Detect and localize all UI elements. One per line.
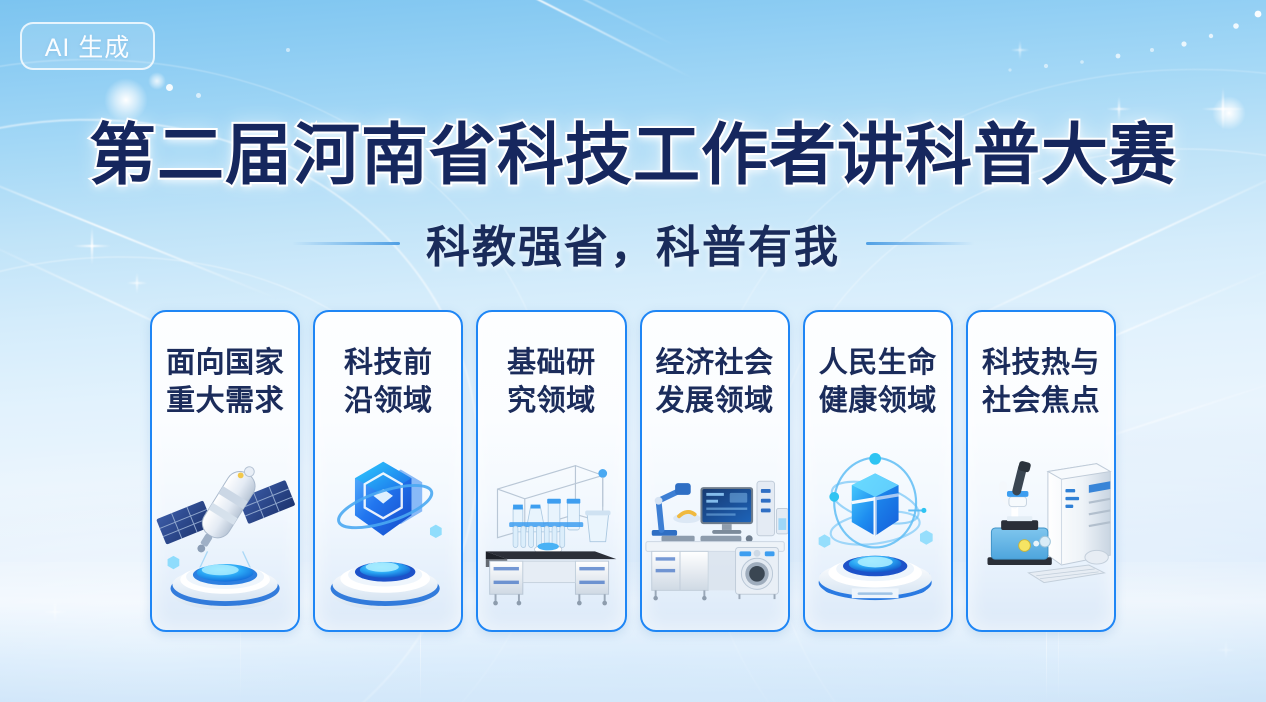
- light-ray: [444, 0, 676, 46]
- category-card-tech-hotspots[interactable]: 科技热与 社会焦点: [966, 310, 1116, 632]
- ai-generated-badge-label: AI 生成: [45, 28, 131, 64]
- sparkle-icon: [1216, 640, 1236, 660]
- poster-canvas: AI 生成 第二届河南省科技工作者讲科普大赛 科教强省，科普有我 面向国家 重大…: [0, 0, 1266, 702]
- light-dot: [196, 93, 201, 98]
- sparkle-icon: [43, 600, 67, 624]
- category-card-title: 面向国家 重大需求: [152, 344, 298, 421]
- light-dot: [286, 48, 290, 52]
- page-title: 第二届河南省科技工作者讲科普大赛: [0, 101, 1266, 198]
- category-card-public-health[interactable]: 人民生命 健康领域: [803, 310, 953, 632]
- category-card-title: 经济社会 发展领域: [642, 344, 788, 421]
- light-dot: [166, 84, 173, 91]
- microscope-computer-icon: [968, 444, 1114, 612]
- satellite-icon: [152, 444, 298, 612]
- light-bokeh: [148, 72, 166, 90]
- category-card-frontier-tech[interactable]: 科技前 沿领域: [313, 310, 463, 632]
- subtitle-row: 科教强省，科普有我: [0, 211, 1266, 275]
- category-card-title: 基础研 究领域: [478, 344, 624, 421]
- category-card-title: 科技前 沿领域: [315, 344, 461, 421]
- category-card-national-needs[interactable]: 面向国家 重大需求: [150, 310, 300, 632]
- category-card-social-economy[interactable]: 经济社会 发展领域: [640, 310, 790, 632]
- sparkle-icon: [1010, 40, 1030, 60]
- category-card-title: 人民生命 健康领域: [805, 344, 951, 421]
- ai-generated-badge: AI 生成: [20, 22, 155, 70]
- lab-bench-icon: [478, 444, 624, 612]
- category-card-basic-research[interactable]: 基础研 究领域: [476, 310, 626, 632]
- globe-hologram-icon: [805, 444, 951, 612]
- category-card-row: 面向国家 重大需求: [150, 310, 1116, 632]
- subtitle-rule-left: [292, 242, 400, 245]
- light-ray: [398, 0, 693, 78]
- subtitle-rule-right: [866, 242, 974, 245]
- workstation-icon: [642, 444, 788, 612]
- sparkle-icon: [126, 272, 148, 294]
- shield-hologram-icon: [315, 444, 461, 612]
- page-subtitle: 科教强省，科普有我: [426, 211, 840, 275]
- category-card-title: 科技热与 社会焦点: [968, 344, 1114, 421]
